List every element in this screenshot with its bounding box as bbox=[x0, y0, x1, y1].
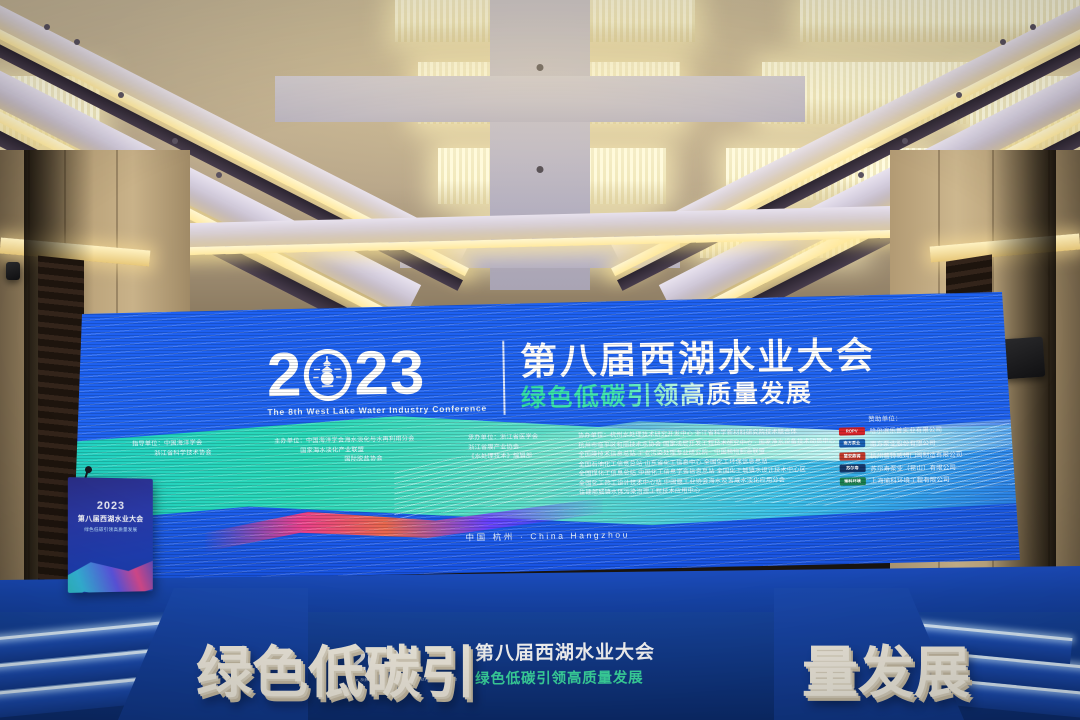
podium-front-panel: 2023 第八届西湖水业大会 绿色低碳引领高质量发展 bbox=[68, 477, 153, 593]
ceiling-downlight-right-e bbox=[858, 172, 864, 178]
ceiling-downlight-left-a bbox=[44, 24, 50, 30]
led-scanline-overlay bbox=[72, 292, 1020, 582]
ceiling-downlight-left-d bbox=[172, 138, 178, 144]
ceiling-downlight-right-d bbox=[902, 138, 908, 144]
ceiling-downlight-right-a bbox=[1030, 24, 1036, 30]
wallprint-chinese: 第八届西湖水业大会 绿色低碳引领高质量发展 bbox=[475, 637, 655, 688]
podium-title: 第八届西湖水业大会 bbox=[68, 514, 153, 525]
ceiling-downlight-left-c bbox=[118, 92, 124, 98]
foam-letters-left: 绿色低碳引 bbox=[196, 646, 476, 702]
podium-branding: 2023 第八届西湖水业大会 绿色低碳引领高质量发展 bbox=[68, 499, 153, 533]
ceiling-downlight-right-c bbox=[956, 92, 962, 98]
ceiling-downlight-right-b bbox=[1000, 39, 1006, 45]
conference-stage-photo: 2 bbox=[0, 0, 1080, 720]
wallprint-title: 第八届西湖水业大会 bbox=[475, 637, 655, 665]
ceiling-downlight-left-b bbox=[74, 39, 80, 45]
podium: 2023 第八届西湖水业大会 绿色低碳引领高质量发展 bbox=[68, 477, 153, 593]
ceiling-downlight-left-e bbox=[216, 172, 222, 178]
podium-year: 2023 bbox=[68, 499, 153, 512]
podium-slogan: 绿色低碳引领高质量发展 bbox=[68, 527, 153, 533]
foam-letters-right: 量发展 bbox=[802, 646, 970, 702]
led-screen: 2 bbox=[72, 292, 1020, 582]
wallprint-slogan: 绿色低碳引领高质量发展 bbox=[475, 666, 655, 688]
loudspeaker-left bbox=[6, 262, 20, 280]
